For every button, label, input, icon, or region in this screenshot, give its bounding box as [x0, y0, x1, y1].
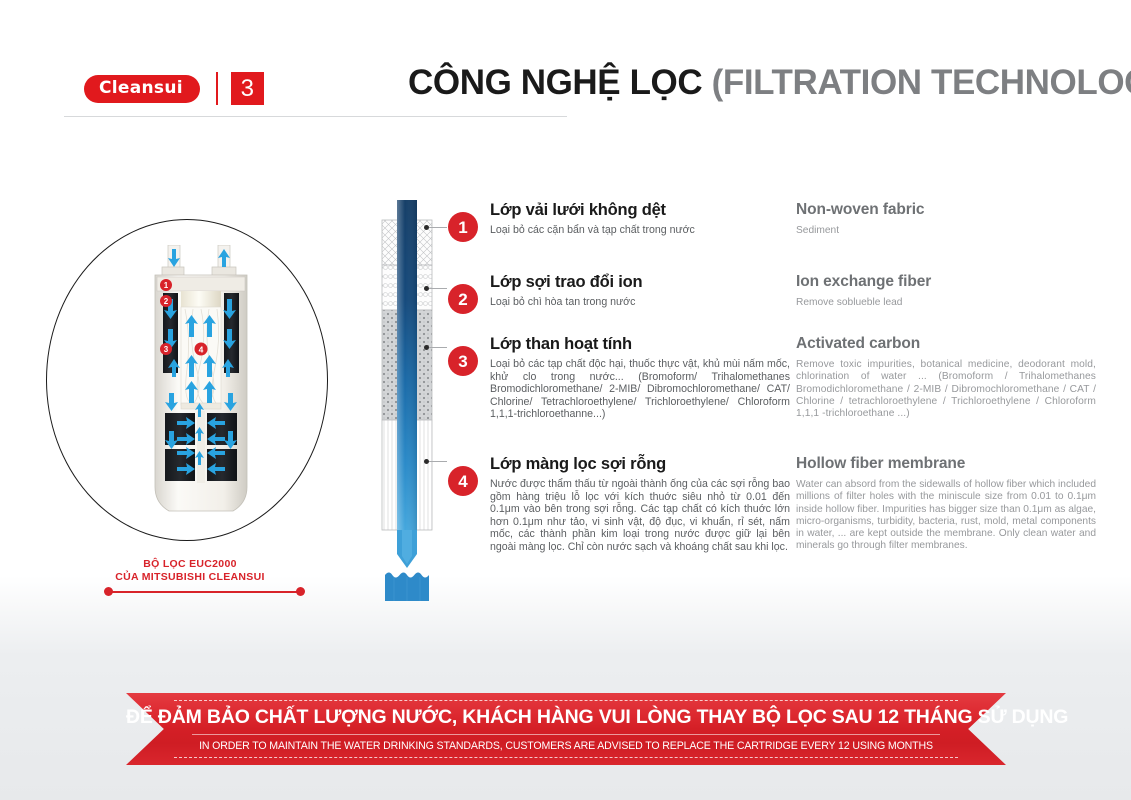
- layer-4-title-en: Hollow fiber membrane: [796, 454, 1096, 474]
- bottom-notice-ribbon: ĐỂ ĐẢM BẢO CHẤT LƯỢNG NƯỚC, KHÁCH HÀNG V…: [126, 693, 1006, 765]
- filter-layer-item: 1 Lớp vải lưới không dệt Loại bỏ các cặn…: [448, 200, 1108, 272]
- layer-2-english: Ion exchange fiber Remove soblueble lead: [796, 272, 1096, 309]
- ribbon-background: [126, 693, 1006, 765]
- svg-text:4: 4: [199, 345, 204, 355]
- layer-2-title-en: Ion exchange fiber: [796, 272, 1096, 292]
- svg-text:1: 1: [164, 281, 169, 290]
- layer-1-title-en: Non-woven fabric: [796, 200, 1096, 220]
- layer-2-vietnamese: Lớp sợi trao đổi ion Loại bỏ chì hòa tan…: [490, 272, 790, 309]
- cartridge-caption: BỘ LỌC EUC2000 CỦA MITSUBISHI CLEANSUI: [60, 558, 320, 584]
- caption-dot-left: [104, 587, 113, 596]
- svg-text:2: 2: [164, 297, 169, 306]
- brand-logo-text: Cleansui: [84, 75, 200, 103]
- cartridge-illustration: 1 2 3 4: [44, 217, 334, 547]
- connector-line-4: [429, 461, 447, 462]
- ribbon-dashed-top: [174, 700, 958, 701]
- connector-line-3: [429, 347, 447, 348]
- layer-3-english: Activated carbon Remove toxic impurities…: [796, 334, 1096, 420]
- filter-layer-item: 4 Lớp màng lọc sợi rỗng Nước được thẩm t…: [448, 454, 1108, 594]
- filter-layer-item: 2 Lớp sợi trao đổi ion Loại bỏ chì hòa t…: [448, 272, 1108, 334]
- cartridge-cutaway-graphic: 1 2 3 4: [139, 245, 263, 517]
- layer-1-vietnamese: Lớp vải lưới không dệt Loại bỏ các cặn b…: [490, 200, 790, 237]
- caption-dot-right: [296, 587, 305, 596]
- layer-4-vietnamese: Lớp màng lọc sợi rỗng Nước được thẩm thấ…: [490, 454, 790, 554]
- logo-divider: [216, 72, 218, 105]
- caption-underline: [108, 591, 300, 593]
- layer-badge-3: 3: [448, 346, 478, 376]
- layer-1-body-en: Sediment: [796, 225, 1096, 237]
- brand-logo: Cleansui 3: [84, 72, 264, 105]
- layer-2-title-vn: Lớp sợi trao đổi ion: [490, 272, 790, 292]
- layer-1-english: Non-woven fabric Sediment: [796, 200, 1096, 237]
- layer-badge-4: 4: [448, 466, 478, 496]
- connector-line-2: [429, 288, 447, 289]
- filter-cross-section: [378, 200, 436, 600]
- section-number-badge: 3: [231, 72, 264, 105]
- filter-layer-list: 1 Lớp vải lưới không dệt Loại bỏ các cặn…: [448, 200, 1108, 594]
- ribbon-text-vn: ĐỂ ĐẢM BẢO CHẤT LƯỢNG NƯỚC, KHÁCH HÀNG V…: [126, 706, 1006, 729]
- layer-4-body-vn: Nước được thẩm thấu từ ngoài thành ống c…: [490, 478, 790, 554]
- layer-4-title-vn: Lớp màng lọc sợi rỗng: [490, 454, 790, 474]
- layer-4-english: Hollow fiber membrane Water can absord f…: [796, 454, 1096, 553]
- svg-text:3: 3: [164, 345, 169, 354]
- layer-4-body-en: Water can absord from the sidewalls of h…: [796, 479, 1096, 553]
- layer-3-body-en: Remove toxic impurities, botanical medic…: [796, 359, 1096, 420]
- layer-3-title-en: Activated carbon: [796, 334, 1096, 354]
- ribbon-inner-divider: [192, 734, 940, 735]
- page-header: Cleansui 3 CÔNG NGHỆ LỌC (FILTRATION TEC…: [0, 0, 1131, 140]
- page-title: CÔNG NGHỆ LỌC (FILTRATION TECHNOLOGY): [408, 63, 1108, 103]
- layer-3-vietnamese: Lớp than hoạt tính Loại bỏ các tạp chất …: [490, 334, 790, 421]
- page-title-vn: CÔNG NGHỆ LỌC: [408, 63, 702, 102]
- layer-1-title-vn: Lớp vải lưới không dệt: [490, 200, 790, 220]
- layer-3-title-vn: Lớp than hoạt tính: [490, 334, 790, 354]
- page-title-en: (FILTRATION TECHNOLOGY): [712, 63, 1131, 102]
- layer-badge-1: 1: [448, 212, 478, 242]
- cartridge-caption-line1: BỘ LỌC EUC2000: [60, 558, 320, 571]
- ribbon-dashed-bottom: [174, 757, 958, 758]
- cartridge-caption-line2: CỦA MITSUBISHI CLEANSUI: [60, 571, 320, 584]
- header-divider-line: [64, 116, 567, 117]
- connector-line-1: [429, 227, 447, 228]
- layer-2-body-en: Remove soblueble lead: [796, 297, 1096, 309]
- layer-badge-2: 2: [448, 284, 478, 314]
- ribbon-text-en: IN ORDER TO MAINTAIN THE WATER DRINKING …: [126, 740, 1006, 752]
- layer-1-body-vn: Loại bỏ các cặn bẩn và tạp chất trong nư…: [490, 224, 790, 237]
- layer-2-body-vn: Loại bỏ chì hòa tan trong nước: [490, 296, 790, 309]
- filtered-water-icon: [385, 569, 429, 601]
- filter-layer-item: 3 Lớp than hoạt tính Loại bỏ các tạp chấ…: [448, 334, 1108, 454]
- layer-3-body-vn: Loại bỏ các tạp chất độc hại, thuốc thực…: [490, 358, 790, 421]
